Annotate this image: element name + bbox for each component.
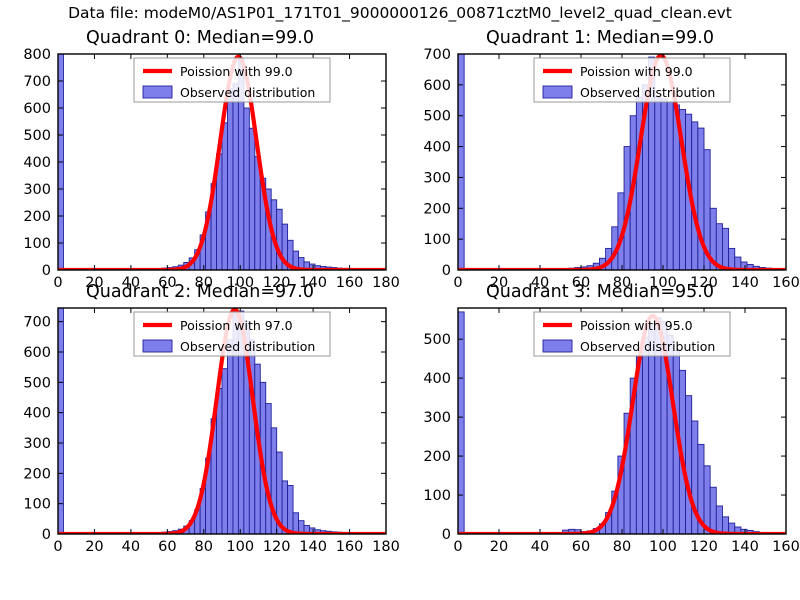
panel-quadrant-1: Quadrant 1: Median=99.002040608010012014… xyxy=(400,28,800,300)
quadrant-2-xtick: 100 xyxy=(226,539,254,555)
quadrant-3-title: Quadrant 3: Median=95.0 xyxy=(400,282,800,302)
quadrant-1-ytick: 500 xyxy=(423,109,451,125)
quadrant-0-legend-label: Observed distribution xyxy=(180,85,315,100)
quadrant-1-legend-label: Poission with 99.0 xyxy=(580,64,693,79)
quadrant-3-ytick: 400 xyxy=(423,371,451,387)
quadrant-2-ytick: 700 xyxy=(23,315,51,331)
panel-quadrant-2: Quadrant 2: Median=97.002040608010012014… xyxy=(0,282,400,564)
quadrant-2-plot: 0204060801001201401601800100200300400500… xyxy=(0,282,400,564)
quadrant-2-title: Quadrant 2: Median=97.0 xyxy=(0,282,400,302)
quadrant-2-legend-label: Observed distribution xyxy=(180,339,315,354)
quadrant-1-ytick: 300 xyxy=(423,170,451,186)
quadrant-3-xtick: 120 xyxy=(690,539,718,555)
quadrant-3-xtick: 80 xyxy=(613,539,631,555)
quadrant-3-ytick: 500 xyxy=(423,332,451,348)
quadrant-1-plot: 0204060801001201401600100200300400500600… xyxy=(400,28,800,300)
quadrant-2-xtick: 0 xyxy=(53,539,62,555)
quadrant-3-xtick: 100 xyxy=(649,539,677,555)
quadrant-3-xtick: 40 xyxy=(531,539,549,555)
quadrant-3-ytick: 300 xyxy=(423,410,451,426)
figure-canvas: Data file: modeM0/AS1P01_171T01_90000001… xyxy=(0,0,800,600)
quadrant-2-legend[interactable]: Poission with 97.0Observed distribution xyxy=(134,312,330,356)
quadrant-0-ytick: 800 xyxy=(23,47,51,63)
quadrant-1-ytick: 700 xyxy=(423,47,451,63)
quadrant-0-legend[interactable]: Poission with 99.0Observed distribution xyxy=(134,58,330,102)
quadrant-2-ytick: 200 xyxy=(23,466,51,482)
quadrant-1-ytick: 0 xyxy=(442,263,451,279)
quadrant-1-ytick: 400 xyxy=(423,140,451,156)
quadrant-2-xtick: 20 xyxy=(85,539,103,555)
quadrant-1-legend[interactable]: Poission with 99.0Observed distribution xyxy=(534,58,730,102)
quadrant-3-legend-label: Observed distribution xyxy=(580,339,715,354)
quadrant-1-title: Quadrant 1: Median=99.0 xyxy=(400,28,800,48)
quadrant-2-ytick: 500 xyxy=(23,375,51,391)
quadrant-3-legend-label: Poission with 95.0 xyxy=(580,318,693,333)
quadrant-2-ytick: 400 xyxy=(23,406,51,422)
quadrant-2-xtick: 120 xyxy=(263,539,291,555)
quadrant-1-ytick: 200 xyxy=(423,201,451,217)
quadrant-2-ytick: 100 xyxy=(23,497,51,513)
quadrant-2-legend-label: Poission with 97.0 xyxy=(180,318,293,333)
quadrant-2-ytick: 300 xyxy=(23,436,51,452)
quadrant-3-ytick: 100 xyxy=(423,488,451,504)
panel-quadrant-3: Quadrant 3: Median=95.002040608010012014… xyxy=(400,282,800,564)
quadrant-2-xtick: 80 xyxy=(195,539,213,555)
quadrant-3-xtick: 140 xyxy=(731,539,759,555)
quadrant-0-ytick: 300 xyxy=(23,182,51,198)
quadrant-2-xtick: 180 xyxy=(372,539,400,555)
quadrant-0-ytick: 700 xyxy=(23,74,51,90)
quadrant-3-plot: 0204060801001201401600100200300400500Poi… xyxy=(400,282,800,564)
quadrant-0-ytick: 600 xyxy=(23,101,51,117)
quadrant-0-ytick: 200 xyxy=(23,209,51,225)
quadrant-0-legend-label: Poission with 99.0 xyxy=(180,64,293,79)
quadrant-3-legend[interactable]: Poission with 95.0Observed distribution xyxy=(534,312,730,356)
quadrant-0-plot: 0204060801001201401601800100200300400500… xyxy=(0,28,400,300)
quadrant-3-xtick: 160 xyxy=(772,539,800,555)
quadrant-2-xtick: 140 xyxy=(299,539,327,555)
quadrant-2-xtick: 60 xyxy=(158,539,176,555)
quadrant-1-ytick: 600 xyxy=(423,78,451,94)
quadrant-3-xtick: 60 xyxy=(572,539,590,555)
quadrant-3-xtick: 20 xyxy=(490,539,508,555)
quadrant-0-ytick: 500 xyxy=(23,128,51,144)
panel-quadrant-0: Quadrant 0: Median=99.002040608010012014… xyxy=(0,28,400,300)
quadrant-2-xtick: 160 xyxy=(336,539,364,555)
quadrant-0-title: Quadrant 0: Median=99.0 xyxy=(0,28,400,48)
quadrant-2-ytick: 600 xyxy=(23,345,51,361)
quadrant-0-ytick: 400 xyxy=(23,155,51,171)
quadrant-3-xtick: 0 xyxy=(453,539,462,555)
quadrant-2-ytick: 0 xyxy=(42,527,51,543)
quadrant-3-ytick: 0 xyxy=(442,527,451,543)
quadrant-2-xtick: 40 xyxy=(122,539,140,555)
quadrant-1-legend-label: Observed distribution xyxy=(580,85,715,100)
quadrant-0-ytick: 0 xyxy=(42,263,51,279)
quadrant-3-ytick: 200 xyxy=(423,449,451,465)
quadrant-0-ytick: 100 xyxy=(23,236,51,252)
figure-suptitle: Data file: modeM0/AS1P01_171T01_90000001… xyxy=(0,4,800,22)
quadrant-1-ytick: 100 xyxy=(423,232,451,248)
